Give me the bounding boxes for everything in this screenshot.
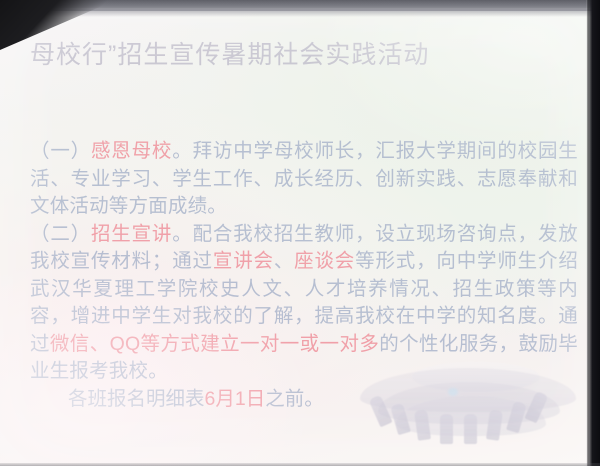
highlighted-text-run: 6月1日 — [205, 388, 266, 410]
highlighted-text-run: 宣讲会 — [213, 250, 274, 272]
text-run: 之前。 — [265, 388, 324, 410]
text-run: 、 — [274, 250, 294, 272]
slide-text-content: 母校行”招生宣传暑期社会实践活动 （一）感恩母校。拜访中学母校师长，汇报大学期间… — [0, 0, 600, 466]
slide-body: （一）感恩母校。拜访中学母校师长，汇报大学期间的校园生活、专业学习、学生工作、成… — [30, 138, 578, 413]
text-run: （二） — [30, 223, 91, 245]
highlighted-text-run: 微信、QQ等方式建立一对一或一对多 — [50, 333, 379, 355]
projected-slide-photo: 母校行”招生宣传暑期社会实践活动 （一）感恩母校。拜访中学母校师长，汇报大学期间… — [0, 0, 600, 466]
screen-right-bezel — [587, 0, 600, 466]
highlighted-text-run: 招生宣讲 — [91, 223, 172, 245]
slide-title: 母校行”招生宣传暑期社会实践活动 — [30, 38, 429, 72]
slide-paragraph-item-1: （一）感恩母校。拜访中学母校师长，汇报大学期间的校园生活、专业学习、学生工作、成… — [30, 138, 578, 221]
slide-paragraph-item-2: （二）招生宣讲。配合我校招生教师，设立现场咨询点，发放我校宣传材料；通过宣讲会、… — [30, 221, 578, 386]
highlighted-text-run: 感恩母校 — [91, 140, 172, 162]
text-run: （一） — [30, 140, 91, 162]
text-run: 各班报名明细表 — [68, 388, 205, 410]
slide-deadline-line: 各班报名明细表6月1日之前。 — [30, 386, 578, 414]
highlighted-text-run: 座谈会 — [294, 250, 355, 272]
